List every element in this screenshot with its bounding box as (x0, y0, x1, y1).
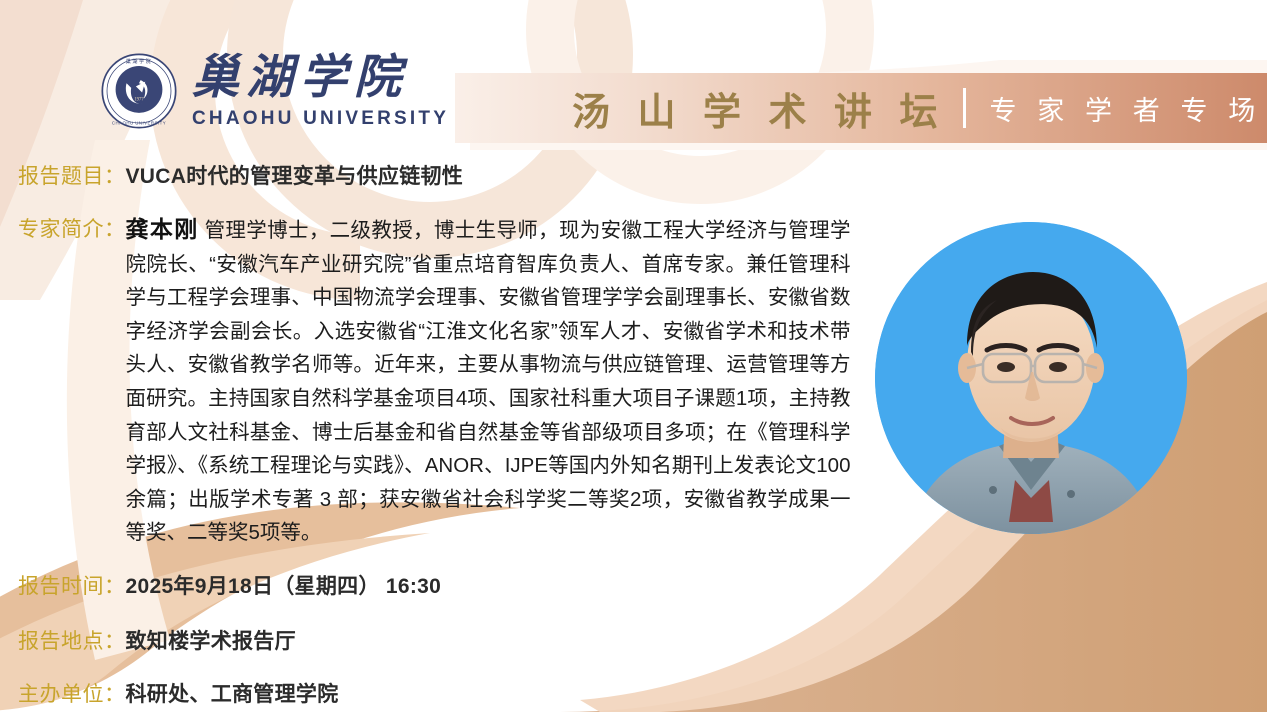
poster-root: 1977 巢湖学院 CHAOHU UNIVERSITY 巢湖学院 CHAOHU … (0, 0, 1267, 712)
speaker-portrait (875, 222, 1187, 534)
svg-text:1977: 1977 (134, 97, 144, 102)
label-report-place: 报告地点： (18, 625, 126, 655)
university-logo: 1977 巢湖学院 CHAOHU UNIVERSITY 巢湖学院 CHAOHU … (100, 52, 449, 130)
value-report-time: 2025年9月18日（星期四） 16:30 (126, 570, 442, 600)
label-host-unit: 主办单位： (18, 678, 126, 708)
row-report-place: 报告地点： 致知楼学术报告厅 (18, 625, 296, 655)
university-name-en: CHAOHU UNIVERSITY (192, 109, 449, 128)
label-speaker-bio: 专家简介： (18, 213, 126, 243)
label-report-title: 报告题目： (18, 160, 126, 190)
svg-text:CHAOHU UNIVERSITY: CHAOHU UNIVERSITY (112, 121, 166, 126)
row-report-time: 报告时间： 2025年9月18日（星期四） 16:30 (18, 570, 441, 600)
value-speaker-bio: 龚本刚 管理学博士，二级教授，博士生导师，现为安徽工程大学经济与管理学院院长、“… (126, 213, 851, 550)
value-host-unit: 科研处、工商管理学院 (126, 678, 339, 708)
value-report-place: 致知楼学术报告厅 (126, 625, 296, 655)
svg-text:巢湖学院: 巢湖学院 (126, 58, 152, 65)
banner-divider (963, 88, 966, 128)
university-seal-icon: 1977 巢湖学院 CHAOHU UNIVERSITY (100, 52, 178, 130)
speaker-bio-text: 管理学博士，二级教授，博士生导师，现为安徽工程大学经济与管理学院院长、“安徽汽车… (126, 219, 851, 544)
label-report-time: 报告时间： (18, 570, 126, 600)
row-speaker-bio: 专家简介： 龚本刚 管理学博士，二级教授，博士生导师，现为安徽工程大学经济与管理… (18, 213, 898, 550)
forum-banner-title: 汤 山 学 术 讲 坛 (572, 81, 947, 136)
value-report-title: VUCA时代的管理变革与供应链韧性 (126, 160, 464, 190)
row-host-unit: 主办单位： 科研处、工商管理学院 (18, 678, 339, 708)
university-name-cn: 巢湖学院 (192, 55, 449, 102)
speaker-name: 龚本刚 (126, 216, 199, 242)
forum-banner: 汤 山 学 术 讲 坛 专 家 学 者 专 场 (455, 73, 1267, 143)
row-report-title: 报告题目： VUCA时代的管理变革与供应链韧性 (18, 160, 463, 190)
speaker-photo (875, 222, 1187, 534)
forum-banner-subtitle: 专 家 学 者 专 场 (990, 89, 1263, 128)
